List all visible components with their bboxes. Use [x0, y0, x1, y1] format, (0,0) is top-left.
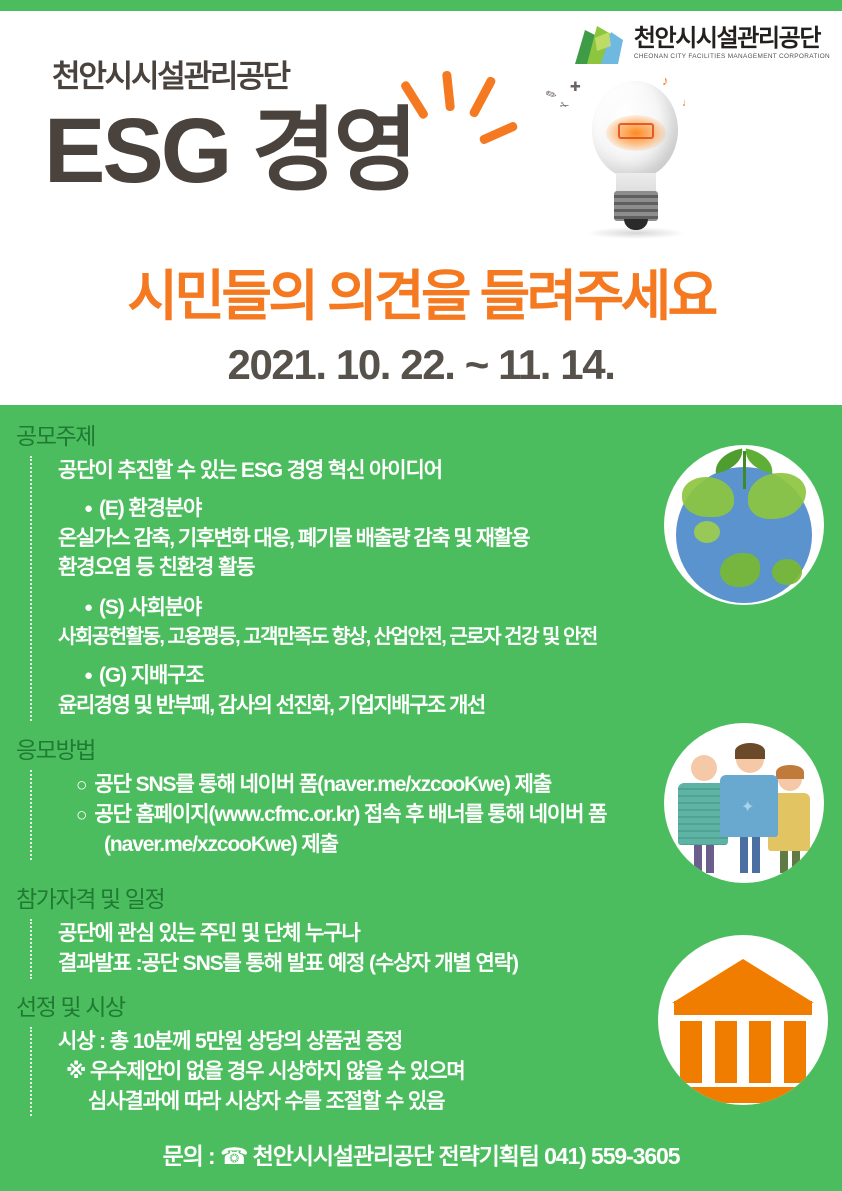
section-eligibility: 참가자격 및 일정 공단에 관심 있는 주민 및 단체 누구나 결과발표 :공단…	[16, 880, 518, 979]
section-topic-body: 공단이 추진할 수 있는 ESG 경영 혁신 아이디어 (E) 환경분야 온실가…	[30, 456, 597, 721]
section-eligibility-body: 공단에 관심 있는 주민 및 단체 누구나 결과발표 :공단 SNS를 통해 발…	[30, 919, 518, 979]
section-awards-body: 시상 : 총 10분께 5만원 상당의 상품권 증정 ※ 우수제안이 없을 경우…	[30, 1027, 465, 1116]
award-note-1: ※ 우수제안이 없을 경우 시상하지 않을 수 있으며	[58, 1057, 465, 1087]
pillar-e-detail-2: 환경오염 등 친환경 활동	[58, 553, 597, 583]
lightbulb-icon: ✎ ✚ ✁ ♪ ♩ ✿	[540, 69, 730, 239]
pillar-e-label: (E) 환경분야	[58, 494, 597, 524]
logo-mark-icon	[571, 20, 627, 68]
award-item-1: 시상 : 총 10분께 5만원 상당의 상품권 증정	[58, 1027, 465, 1057]
person-man-center: ✦	[720, 745, 780, 873]
section-eligibility-heading: 참가자격 및 일정	[16, 880, 518, 914]
section-awards: 선정 및 시상 시상 : 총 10분께 5만원 상당의 상품권 증정 ※ 우수제…	[16, 988, 465, 1116]
esg-campaign-poster: 천안시시설관리공단 CHEONAN CITY FACILITIES MANAGE…	[0, 0, 842, 1191]
pillar-s-detail-1: 사회공헌활동, 고용평등, 고객만족도 향상, 산업안전, 근로자 건강 및 안…	[58, 623, 597, 651]
pillar-g-detail-1: 윤리경영 및 반부패, 감사의 선진화, 기업지배구조 개선	[58, 691, 597, 721]
pillar-g-label: (G) 지배구조	[58, 661, 597, 691]
eligibility-item-2: 결과발표 :공단 SNS를 통해 발표 예정 (수상자 개별 연락)	[58, 949, 518, 979]
section-topic: 공모주제 공단이 추진할 수 있는 ESG 경영 혁신 아이디어 (E) 환경분…	[16, 417, 597, 721]
section-how-to-apply: 응모방법 공단 SNS를 통해 네이버 폼(naver.me/xzcooKwe)…	[16, 731, 606, 860]
page-title: ESG 경영	[44, 105, 415, 197]
governance-building-icon	[658, 935, 828, 1105]
section-apply-body: 공단 SNS를 통해 네이버 폼(naver.me/xzcooKwe) 제출 공…	[30, 770, 606, 860]
contact-footer: 문의 : ☎ 천안시시설관리공단 전략기획팀 041) 559-3605	[0, 1137, 842, 1171]
organization-name: 천안시시설관리공단	[52, 51, 289, 96]
topic-intro-line: 공단이 추진할 수 있는 ESG 경영 혁신 아이디어	[58, 456, 597, 486]
poster-body: 공모주제 공단이 추진할 수 있는 ESG 경영 혁신 아이디어 (E) 환경분…	[0, 405, 842, 1191]
award-note-2: 심사결과에 따라 시상자 수를 조절할 수 있음	[58, 1087, 465, 1117]
campaign-slogan: 시민들의 의견을 들려주세요	[0, 251, 842, 331]
earth-sprout-icon	[664, 445, 824, 605]
eligibility-item-1: 공단에 관심 있는 주민 및 단체 누구나	[58, 919, 518, 949]
three-people-icon: ✦	[664, 723, 824, 883]
logo-english-name: CHEONAN CITY FACILITIES MANAGEMENT CORPO…	[634, 54, 830, 60]
campaign-period: 2021. 10. 22. ~ 11. 14.	[0, 341, 842, 389]
pillar-e-detail-1: 온실가스 감축, 기후변화 대응, 폐기물 배출량 감축 및 재활용	[58, 524, 597, 554]
sparkle-burst-icon	[392, 69, 512, 159]
organization-logo: 천안시시설관리공단 CHEONAN CITY FACILITIES MANAGE…	[571, 20, 830, 68]
section-topic-heading: 공모주제	[16, 417, 597, 451]
pillar-s-label: (S) 사회분야	[58, 593, 597, 623]
apply-method-2: 공단 홈페이지(www.cfmc.or.kr) 접속 후 배너를 통해 네이버 …	[58, 800, 606, 830]
top-green-rule	[0, 0, 842, 11]
section-apply-heading: 응모방법	[16, 731, 606, 765]
section-awards-heading: 선정 및 시상	[16, 988, 465, 1022]
logo-korean-name: 천안시시설관리공단	[634, 27, 830, 51]
poster-header: 천안시시설관리공단 CHEONAN CITY FACILITIES MANAGE…	[0, 11, 842, 405]
apply-method-2-cont: (naver.me/xzcooKwe) 제출	[58, 830, 606, 860]
apply-method-1: 공단 SNS를 통해 네이버 폼(naver.me/xzcooKwe) 제출	[58, 770, 606, 800]
